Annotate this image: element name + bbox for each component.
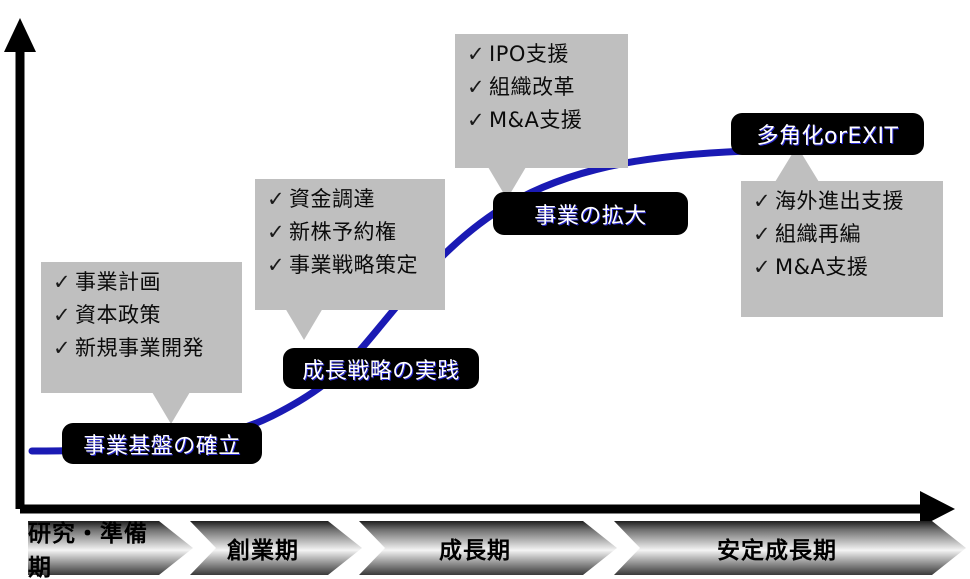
check-icon: ✓	[753, 191, 775, 212]
diagram-canvas: ✓ 事業計画 ✓ 資本政策 ✓ 新規事業開発 ✓ 資金調達 ✓ 新株予約権 ✓ …	[0, 0, 970, 579]
check-icon: ✓	[467, 77, 489, 98]
callout-4: ✓ 海外進出支援 ✓ 組織再編 ✓ M&A支援	[741, 181, 943, 317]
callout-2-item-0: ✓ 資金調達	[267, 189, 431, 210]
callout-item-label: M&A支援	[489, 110, 582, 131]
check-icon: ✓	[753, 224, 775, 245]
check-icon: ✓	[467, 44, 489, 65]
phase-bar: 研究・準備期 創業期 成長期 安定成長期	[0, 521, 970, 579]
y-axis	[4, 18, 36, 509]
callout-3: ✓ IPO支援 ✓ 組織改革 ✓ M&A支援	[455, 34, 628, 168]
check-icon: ✓	[267, 189, 289, 210]
check-icon: ✓	[53, 272, 75, 293]
callout-3-item-1: ✓ 組織改革	[467, 77, 614, 98]
callout-3-item-0: ✓ IPO支援	[467, 44, 614, 65]
check-icon: ✓	[267, 255, 289, 276]
callout-item-label: 資金調達	[289, 189, 375, 210]
callout-item-label: 組織改革	[489, 77, 575, 98]
callout-item-label: 新株予約権	[289, 222, 397, 243]
phase-research-prep[interactable]: 研究・準備期	[28, 521, 193, 575]
callout-item-label: IPO支援	[489, 44, 569, 65]
phase-stable-growth[interactable]: 安定成長期	[614, 521, 966, 575]
phase-label: 創業期	[190, 521, 362, 575]
callout-3-item-2: ✓ M&A支援	[467, 110, 614, 131]
callout-4-item-0: ✓ 海外進出支援	[753, 191, 929, 212]
check-icon: ✓	[267, 222, 289, 243]
check-icon: ✓	[53, 338, 75, 359]
stage-label-establish-base: 事業基盤の確立	[62, 423, 262, 464]
callout-1: ✓ 事業計画 ✓ 資本政策 ✓ 新規事業開発	[41, 262, 242, 393]
callout-item-label: 事業戦略策定	[289, 255, 418, 276]
callout-4-item-1: ✓ 組織再編	[753, 224, 929, 245]
callout-2-tail	[285, 308, 323, 340]
callout-2-item-1: ✓ 新株予約権	[267, 222, 431, 243]
check-icon: ✓	[53, 305, 75, 326]
check-icon: ✓	[753, 257, 775, 278]
callout-item-label: 事業計画	[75, 272, 161, 293]
phase-founding[interactable]: 創業期	[190, 521, 362, 575]
phase-label: 成長期	[359, 521, 617, 575]
callout-item-label: 新規事業開発	[75, 338, 204, 359]
stage-label-diversify-or-exit: 多角化orEXIT	[731, 113, 924, 155]
phase-label: 研究・準備期	[28, 521, 193, 575]
callout-1-item-2: ✓ 新規事業開発	[53, 338, 228, 359]
phase-growth[interactable]: 成長期	[359, 521, 617, 575]
callout-item-label: 組織再編	[775, 224, 861, 245]
callout-item-label: 海外進出支援	[775, 191, 904, 212]
phase-label: 安定成長期	[614, 521, 966, 575]
callout-2-item-2: ✓ 事業戦略策定	[267, 255, 431, 276]
callout-item-label: 資本政策	[75, 305, 161, 326]
callout-item-label: M&A支援	[775, 257, 868, 278]
callout-1-tail	[152, 392, 190, 424]
check-icon: ✓	[467, 110, 489, 131]
callout-2: ✓ 資金調達 ✓ 新株予約権 ✓ 事業戦略策定	[255, 179, 445, 310]
callout-1-item-1: ✓ 資本政策	[53, 305, 228, 326]
callout-1-item-0: ✓ 事業計画	[53, 272, 228, 293]
stage-label-business-expansion: 事業の拡大	[493, 192, 688, 235]
stage-label-growth-strategy: 成長戦略の実践	[283, 348, 479, 389]
callout-4-item-2: ✓ M&A支援	[753, 257, 929, 278]
